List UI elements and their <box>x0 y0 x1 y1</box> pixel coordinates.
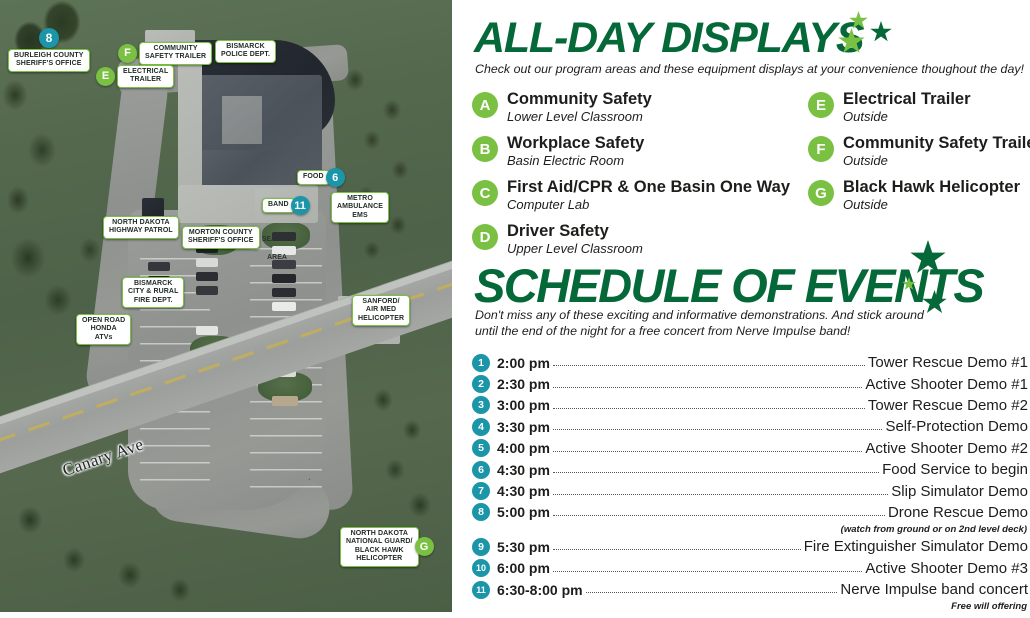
display-item-d[interactable]: D Driver Safety Upper Level Classroom <box>472 222 802 256</box>
schedule-row[interactable]: 2 2:30 pm Active Shooter Demo #1 <box>472 373 1028 394</box>
schedule-event: Slip Simulator Demo <box>891 483 1028 500</box>
display-item-g[interactable]: G Black Hawk Helicopter Outside <box>808 178 1030 212</box>
display-location: Outside <box>843 153 1030 168</box>
leader-dots <box>553 353 865 366</box>
map-label-text: SEATINGAREA <box>262 236 293 261</box>
map-car <box>272 396 298 406</box>
schedule-time: 4:30 pm <box>497 462 550 478</box>
leader-dots <box>553 439 862 452</box>
map-label-text: FOOD <box>303 173 324 181</box>
map-car <box>272 302 296 311</box>
map-label-text: BAND <box>268 201 289 209</box>
display-item-f[interactable]: F Community Safety Trailer Outside <box>808 134 1030 168</box>
leader-dots <box>553 375 862 388</box>
display-location: Computer Lab <box>507 197 790 212</box>
schedule-event: Tower Rescue Demo #2 <box>868 397 1028 414</box>
schedule-event: Self-Protection Demo <box>885 418 1028 435</box>
map-label-text: METROAMBULANCEEMS <box>337 195 383 220</box>
map-label-sanford-air-med[interactable]: SANFORD/AIR MEDHELICOPTER <box>352 295 410 326</box>
schedule-event: Active Shooter Demo #1 <box>865 376 1028 393</box>
map-label-morton-county[interactable]: MORTON COUNTYSHERIFF'S OFFICE <box>182 226 260 249</box>
display-title: Community Safety Trailer <box>843 134 1030 152</box>
schedule-time: 2:30 pm <box>497 376 550 392</box>
display-location: Lower Level Classroom <box>507 109 652 124</box>
map-label-open-road-honda[interactable]: OPEN ROADHONDAATVs <box>76 314 131 345</box>
map-label-nd-national-guard[interactable]: NORTH DAKOTANATIONAL GUARD/BLACK HAWKHEL… <box>340 527 419 567</box>
schedule-time: 4:00 pm <box>497 440 550 456</box>
leader-dots <box>553 559 862 572</box>
map-label-text: BURLEIGH COUNTYSHERIFF'S OFFICE <box>14 52 84 69</box>
display-badge-e: E <box>808 92 834 118</box>
schedule-time: 3:30 pm <box>497 419 550 435</box>
map-label-text: MORTON COUNTYSHERIFF'S OFFICE <box>188 229 254 246</box>
map-building-entry-walk <box>178 60 202 200</box>
schedule-event: Food Service to begin <box>882 461 1028 478</box>
schedule-number: 8 <box>472 503 490 521</box>
schedule-time: 4:30 pm <box>497 483 550 499</box>
schedule-event: Drone Rescue Demo <box>888 504 1028 521</box>
schedule-number: 2 <box>472 375 490 393</box>
schedule-number: 7 <box>472 482 490 500</box>
allday-right-column: E Electrical Trailer Outside F Community… <box>808 90 1030 222</box>
map-car <box>272 288 296 297</box>
display-title: Community Safety <box>507 90 652 108</box>
schedule-time: 6:30-8:00 pm <box>497 582 583 598</box>
schedule-list: 1 2:00 pm Tower Rescue Demo #1 2 2:30 pm… <box>472 352 1028 613</box>
map-car <box>148 262 170 271</box>
map-marker-band[interactable]: BAND 11 <box>262 196 310 215</box>
map-car <box>272 274 296 283</box>
map-marker-nd-national-guard[interactable]: NORTH DAKOTANATIONAL GUARD/BLACK HAWKHEL… <box>340 527 434 567</box>
map-label-text: OPEN ROADHONDAATVs <box>82 317 125 342</box>
map-building-lower <box>196 150 281 190</box>
schedule-time: 5:00 pm <box>497 504 550 520</box>
leader-dots <box>553 460 879 473</box>
map-car <box>196 258 218 267</box>
leader-dots <box>553 482 888 495</box>
display-item-a[interactable]: A Community Safety Lower Level Classroom <box>472 90 802 124</box>
map-badge-6[interactable]: 6 <box>326 168 345 187</box>
leader-dots <box>553 503 885 516</box>
map-car <box>196 286 218 295</box>
display-title: Workplace Safety <box>507 134 644 152</box>
schedule-row[interactable]: 1 2:00 pm Tower Rescue Demo #1 <box>472 352 1028 373</box>
display-badge-d: D <box>472 224 498 250</box>
map-car <box>196 326 218 335</box>
leader-dots <box>553 417 883 430</box>
schedule-number: 4 <box>472 418 490 436</box>
schedule-number: 6 <box>472 461 490 479</box>
schedule-time: 2:00 pm <box>497 355 550 371</box>
schedule-row[interactable]: 10 6:00 pm Active Shooter Demo #3 <box>472 558 1028 579</box>
schedule-row[interactable]: 4 3:30 pm Self-Protection Demo <box>472 416 1028 437</box>
allday-heading: ALL-DAY DISPLAYS <box>474 17 863 60</box>
schedule-time: 5:30 pm <box>497 539 550 555</box>
allday-subtitle: Check out our program areas and these eq… <box>475 62 1027 78</box>
map-marker-electrical-trailer[interactable]: E ELECTRICALTRAILER <box>96 65 174 88</box>
schedule-row[interactable]: 11 6:30-8:00 pm Nerve Impulse band conce… <box>472 579 1028 600</box>
display-item-e[interactable]: E Electrical Trailer Outside <box>808 90 1030 124</box>
allday-left-column: A Community Safety Lower Level Classroom… <box>472 90 802 266</box>
schedule-number: 10 <box>472 559 490 577</box>
map-badge-11[interactable]: 11 <box>291 196 310 215</box>
display-location: Basin Electric Room <box>507 153 644 168</box>
leader-dots <box>586 580 838 593</box>
display-title: Black Hawk Helicopter <box>843 178 1020 196</box>
display-location: Outside <box>843 109 971 124</box>
schedule-row[interactable]: 3 3:00 pm Tower Rescue Demo #2 <box>472 395 1028 416</box>
schedule-subtitle: Don't miss any of these exciting and inf… <box>475 308 925 339</box>
map-badge-8[interactable]: 8 <box>39 28 59 48</box>
display-badge-c: C <box>472 180 498 206</box>
display-badge-g: G <box>808 180 834 206</box>
map-label-bismarck-fire[interactable]: BISMARCKCITY & RURALFIRE DEPT. <box>122 277 184 308</box>
schedule-row[interactable]: 6 4:30 pm Food Service to begin <box>472 459 1028 480</box>
schedule-row[interactable]: 5 4:00 pm Active Shooter Demo #2 <box>472 438 1028 459</box>
display-badge-f: F <box>808 136 834 162</box>
display-location: Outside <box>843 197 1020 212</box>
map-label-metro-ems[interactable]: METROAMBULANCEEMS <box>331 192 389 223</box>
display-item-c[interactable]: C First Aid/CPR & One Basin One Way Comp… <box>472 178 802 212</box>
display-badge-b: B <box>472 136 498 162</box>
schedule-note: Free will offering <box>472 600 1028 613</box>
map-label-seating-area: SEATINGAREA <box>255 228 299 264</box>
map-car <box>196 272 218 281</box>
poster-page: Canary Ave 8 BURLEIGH COUNTYSHERIFF'S OF… <box>0 0 1030 618</box>
map-badge-e[interactable]: E <box>96 67 115 86</box>
display-title: First Aid/CPR & One Basin One Way <box>507 178 790 196</box>
schedule-number: 11 <box>472 581 490 599</box>
schedule-event: Tower Rescue Demo #1 <box>868 354 1028 371</box>
schedule-event: Active Shooter Demo #3 <box>865 560 1028 577</box>
display-title: Electrical Trailer <box>843 90 971 108</box>
schedule-note: (watch from ground or on 2nd level deck) <box>472 523 1028 536</box>
display-title: Driver Safety <box>507 222 643 240</box>
map-label-nd-highway-patrol[interactable]: NORTH DAKOTAHIGHWAY PATROL <box>103 216 179 239</box>
map-label-text: NORTH DAKOTANATIONAL GUARD/BLACK HAWKHEL… <box>346 530 413 564</box>
map-label-community-trailer[interactable]: COMMUNITYSAFETY TRAILER <box>139 42 212 65</box>
map-label-burleigh[interactable]: BURLEIGH COUNTYSHERIFF'S OFFICE <box>8 49 90 72</box>
map-label-food[interactable]: FOOD <box>297 170 330 184</box>
schedule-event: Nerve Impulse band concert <box>840 581 1028 598</box>
map-label-text: COMMUNITYSAFETY TRAILER <box>145 45 206 62</box>
schedule-time: 3:00 pm <box>497 397 550 413</box>
map-roof-units <box>222 96 262 144</box>
schedule-row[interactable]: 7 4:30 pm Slip Simulator Demo <box>472 480 1028 501</box>
map-label-band[interactable]: BAND <box>262 198 295 212</box>
display-location: Upper Level Classroom <box>507 241 643 256</box>
schedule-event: Fire Extinguisher Simulator Demo <box>804 538 1028 555</box>
star-icon <box>870 21 892 43</box>
schedule-event: Active Shooter Demo #2 <box>865 440 1028 457</box>
display-badge-a: A <box>472 92 498 118</box>
leader-dots <box>553 396 865 409</box>
schedule-time: 6:00 pm <box>497 560 550 576</box>
display-item-b[interactable]: B Workplace Safety Basin Electric Room <box>472 134 802 168</box>
poster-content: ALL-DAY DISPLAYS Check out our program a… <box>460 0 1030 618</box>
leader-dots <box>553 537 801 550</box>
site-map[interactable]: Canary Ave 8 BURLEIGH COUNTYSHERIFF'S OF… <box>0 0 452 612</box>
schedule-number: 3 <box>472 396 490 414</box>
map-marker-food[interactable]: FOOD 6 <box>297 168 345 187</box>
map-label-text: SANFORD/AIR MEDHELICOPTER <box>358 298 404 323</box>
map-label-text: BISMARCKPOLICE DEPT. <box>221 43 270 60</box>
map-label-electrical-trailer[interactable]: ELECTRICALTRAILER <box>117 65 174 88</box>
schedule-number: 9 <box>472 538 490 556</box>
map-marker-community-trailer[interactable]: F COMMUNITYSAFETY TRAILER <box>118 42 212 65</box>
map-label-text: BISMARCKCITY & RURALFIRE DEPT. <box>128 280 178 305</box>
map-badge-f[interactable]: F <box>118 44 137 63</box>
schedule-number: 5 <box>472 439 490 457</box>
schedule-number: 1 <box>472 354 490 372</box>
schedule-row[interactable]: 9 5:30 pm Fire Extinguisher Simulator De… <box>472 536 1028 557</box>
map-label-text: ELECTRICALTRAILER <box>123 68 168 85</box>
map-label-bismarck-police[interactable]: BISMARCKPOLICE DEPT. <box>215 40 276 63</box>
schedule-row[interactable]: 8 5:00 pm Drone Rescue Demo <box>472 502 1028 523</box>
map-label-text: NORTH DAKOTAHIGHWAY PATROL <box>109 219 173 236</box>
map-badge-g[interactable]: G <box>415 537 434 556</box>
